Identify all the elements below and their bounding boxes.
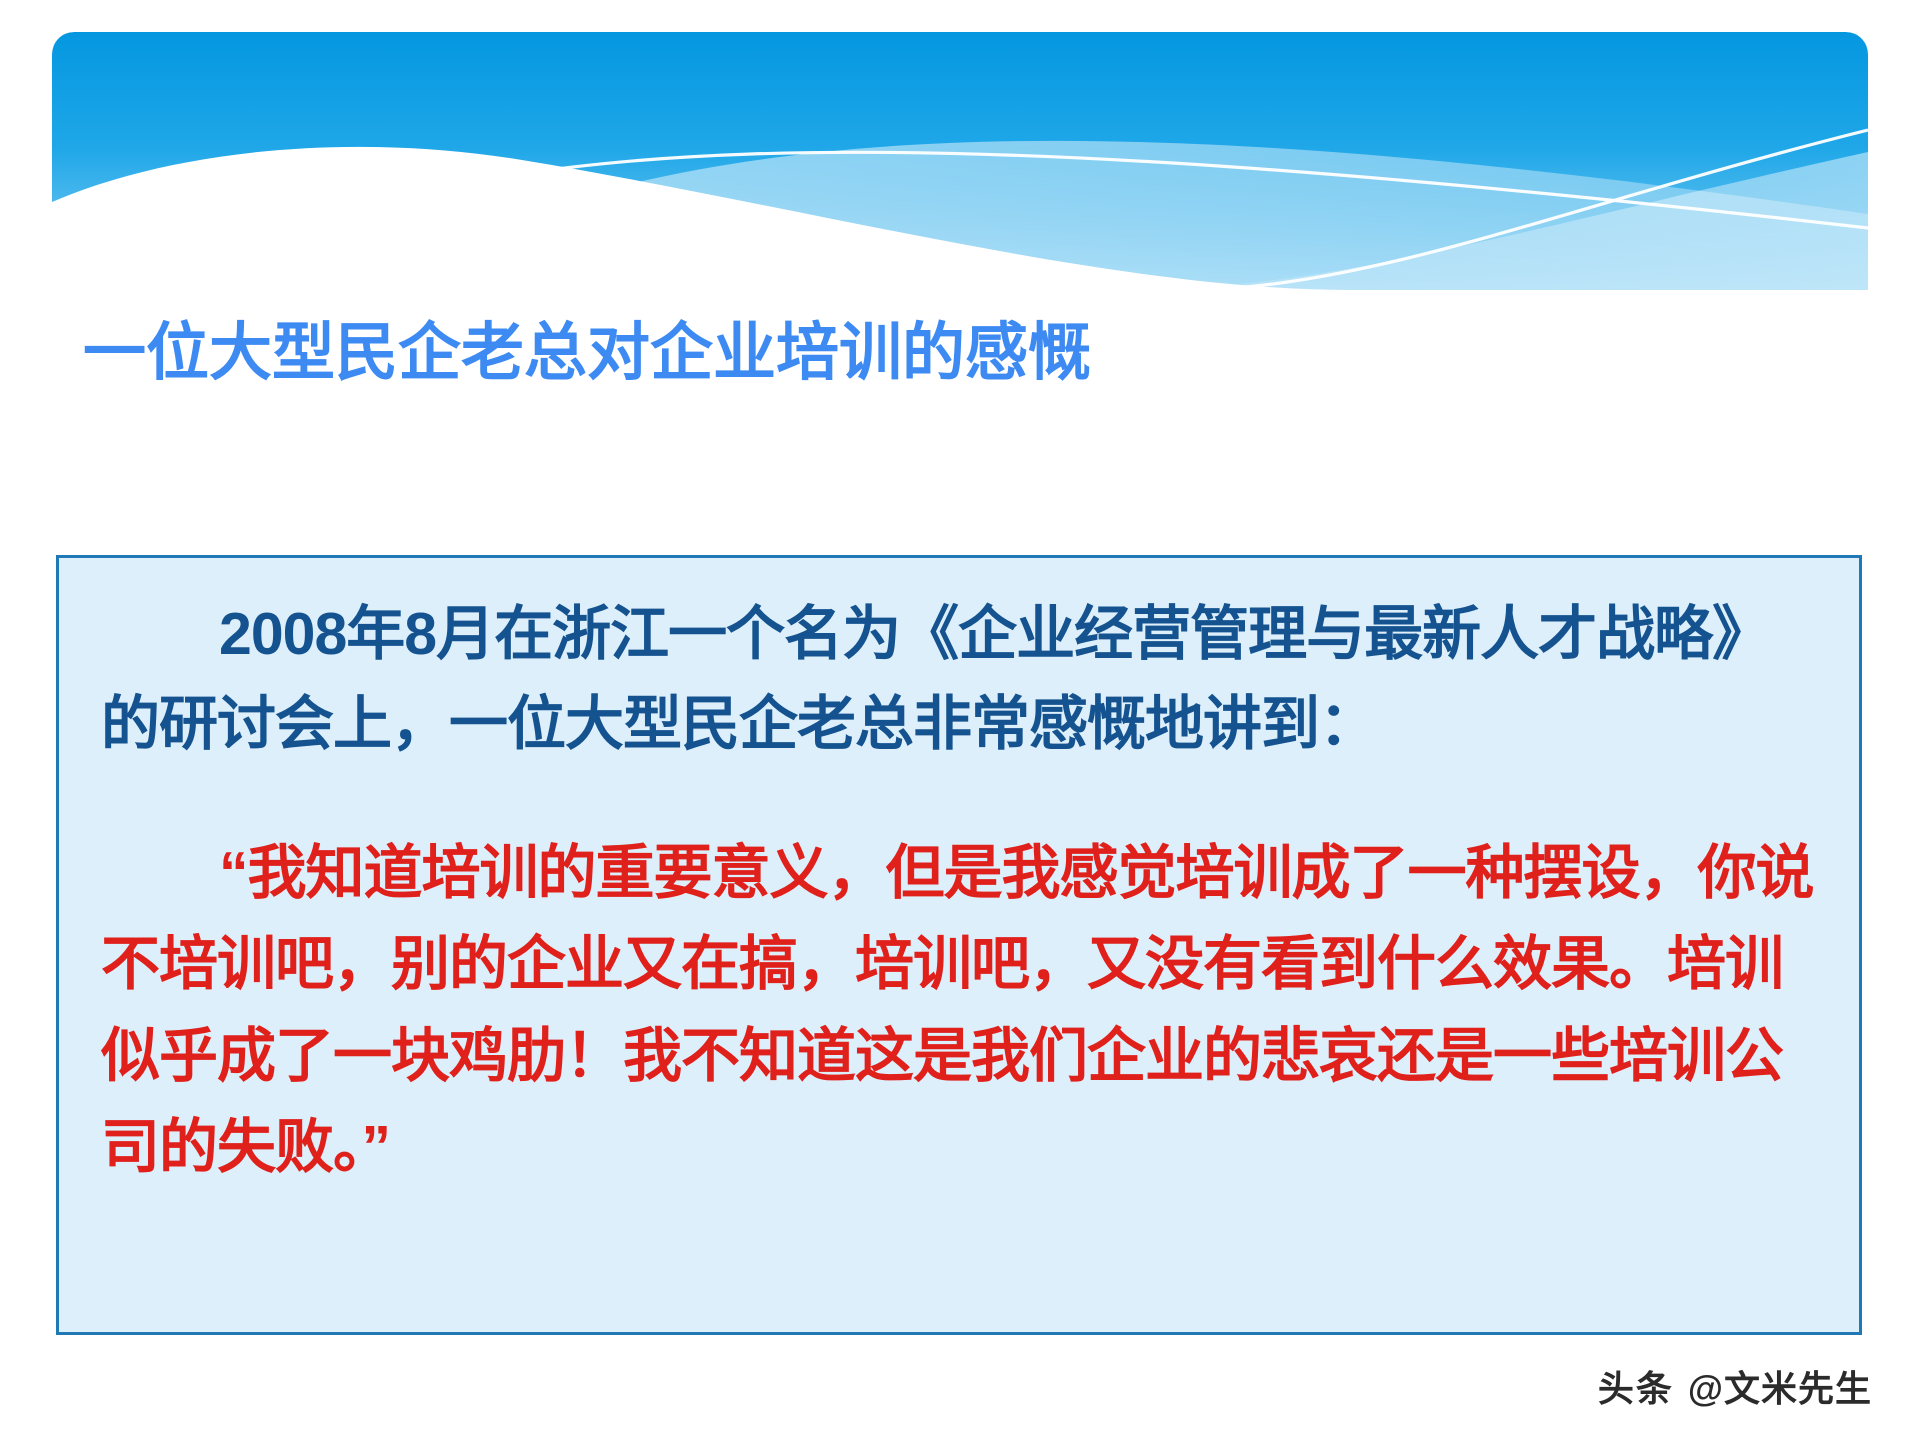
- watermark: 头条 @文米先生: [1598, 1360, 1872, 1412]
- quote-paragraph: “我知道培训的重要意义，但是我感觉培训成了一种摆设，你说不培训吧，别的企业又在搞…: [101, 828, 1821, 1194]
- wave-banner-graphic: [52, 32, 1868, 290]
- watermark-brand: 头条: [1598, 1360, 1674, 1412]
- intro-paragraph: 2008年8月在浙江一个名为《企业经营管理与最新人才战略》的研讨会上，一位大型民…: [101, 590, 1821, 769]
- content-box: 2008年8月在浙江一个名为《企业经营管理与最新人才战略》的研讨会上，一位大型民…: [56, 555, 1862, 1335]
- header-banner: [52, 32, 1868, 290]
- watermark-handle: @文米先生: [1688, 1360, 1872, 1412]
- page-title: 一位大型民企老总对企业培训的感慨: [83, 318, 1783, 389]
- slide: 一位大型民企老总对企业培训的感慨 2008年8月在浙江一个名为《企业经营管理与最…: [0, 0, 1920, 1440]
